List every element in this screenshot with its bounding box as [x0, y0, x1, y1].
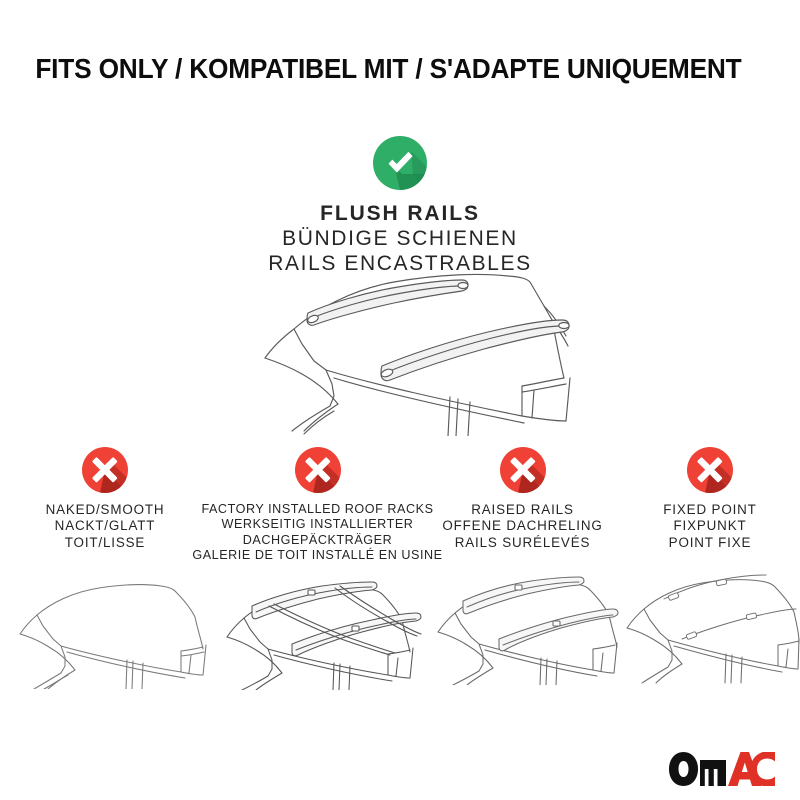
page-title: FITS ONLY / KOMPATIBEL MIT / S'ADAPTE UN… — [0, 55, 742, 83]
car-roof-raised-rails-illustration — [427, 565, 619, 685]
compatible-label-de: BÜNDIGE SCHIENEN — [0, 226, 800, 251]
option-label-de: NACKT/GLATT — [46, 518, 165, 534]
option-label-de: FIXPUNKT — [663, 518, 756, 534]
option-factory-installed-roof-racks: FACTORY INSTALLED ROOF RACKS WERKSEITIG … — [210, 447, 425, 690]
compatible-status-badge — [0, 136, 800, 190]
incompatible-options-row: NAKED/SMOOTH NACKT/GLATT TOIT/LISSE — [0, 447, 800, 690]
page-header: FITS ONLY / KOMPATIBEL MIT / S'ADAPTE UN… — [0, 48, 800, 90]
compatible-section: FLUSH RAILS BÜNDIGE SCHIENEN RAILS ENCAS… — [0, 136, 800, 276]
compatible-label-en: FLUSH RAILS — [0, 201, 800, 226]
option-labels: RAISED RAILS OFFENE DACHRELING RAILS SUR… — [442, 502, 602, 551]
option-label-fr: TOIT/LISSE — [46, 535, 165, 551]
option-label-fr: RAILS SURÉLEVÉS — [442, 535, 602, 551]
option-naked-smooth: NAKED/SMOOTH NACKT/GLATT TOIT/LISSE — [0, 447, 210, 690]
x-circle-icon — [687, 447, 733, 493]
compatible-labels: FLUSH RAILS BÜNDIGE SCHIENEN RAILS ENCAS… — [0, 201, 800, 276]
x-circle-icon — [500, 447, 546, 493]
option-label-de-2: DACHGEPÄCKTRÄGER — [192, 533, 442, 548]
x-circle-icon — [82, 447, 128, 493]
option-raised-rails: RAISED RAILS OFFENE DACHRELING RAILS SUR… — [425, 447, 620, 690]
car-roof-naked-smooth-illustration — [3, 569, 208, 689]
option-labels: FACTORY INSTALLED ROOF RACKS WERKSEITIG … — [192, 502, 442, 564]
option-label-en: FACTORY INSTALLED ROOF RACKS — [192, 502, 442, 517]
option-label-de: OFFENE DACHRELING — [442, 518, 602, 534]
option-label-fr: POINT FIXE — [663, 535, 756, 551]
option-label-en: FIXED POINT — [663, 502, 756, 518]
check-circle-icon — [373, 136, 427, 190]
car-roof-flush-rails-illustration — [222, 266, 588, 436]
car-roof-factory-rack-illustration — [212, 570, 424, 690]
option-labels: NAKED/SMOOTH NACKT/GLATT TOIT/LISSE — [46, 502, 165, 551]
option-label-en: RAISED RAILS — [442, 502, 602, 518]
option-label-en: NAKED/SMOOTH — [46, 502, 165, 518]
x-circle-icon — [295, 447, 341, 493]
option-fixed-point: FIXED POINT FIXPUNKT POINT FIXE — [620, 447, 800, 690]
option-label-de-1: WERKSEITIG INSTALLIERTER — [192, 517, 442, 532]
omac-logo — [669, 752, 775, 786]
option-label-fr: GALERIE DE TOIT INSTALLÉ EN USINE — [192, 548, 442, 563]
option-labels: FIXED POINT FIXPUNKT POINT FIXE — [663, 502, 756, 551]
car-roof-fixed-point-illustration — [620, 565, 800, 685]
